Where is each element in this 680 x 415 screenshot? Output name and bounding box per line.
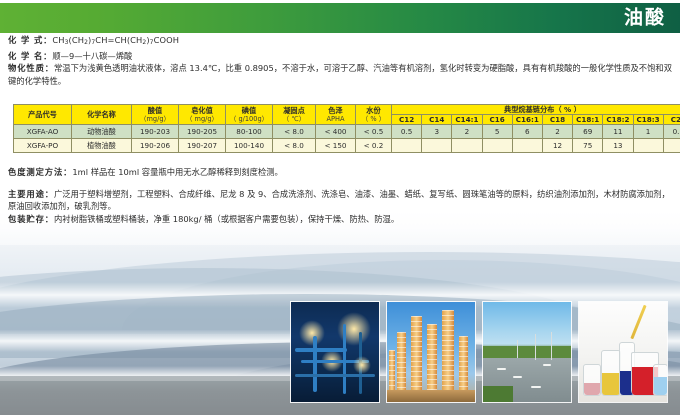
cell-chain-c12 xyxy=(392,139,422,153)
th-chain-c18: C18 xyxy=(542,115,572,125)
th-chain-c18-2: C18:2 xyxy=(603,115,633,125)
photo-night-chemical-plant xyxy=(291,302,379,402)
uses-value: 广泛用于塑料增塑剂，工程塑料、合成纤维、尼龙 8 及 9、合成洗涤剂、洗涤皂、油… xyxy=(8,189,670,212)
cell-chain-c16-1: 6 xyxy=(512,125,542,139)
th-acid-value-unit: （mg/g） xyxy=(132,115,178,123)
cell-chain-c14 xyxy=(422,139,452,153)
cell-chain-c20: 0.5 xyxy=(663,125,680,139)
cell-chain-c18-1: 75 xyxy=(573,139,603,153)
th-chain-c16-1: C16:1 xyxy=(512,115,542,125)
cell-chain-c18: 2 xyxy=(542,125,572,139)
th-chain-distribution-group: 典型烷基链分布（ % ） xyxy=(392,105,680,115)
th-acid-value-label: 酸值 xyxy=(148,106,162,115)
properties-label: 物化性质： xyxy=(8,63,54,73)
th-color-unit: APHA xyxy=(316,115,355,123)
th-chain-c12: C12 xyxy=(392,115,422,125)
th-chain-c18-1: C18:1 xyxy=(573,115,603,125)
cell-code: XGFA-PO xyxy=(14,139,72,153)
photo-distillation-towers xyxy=(387,302,475,402)
chemical-name-line: 化 学 名：顺—9—十八碳—烯酸 xyxy=(8,50,672,63)
uses-label: 主要用途： xyxy=(8,189,54,199)
cell-sap-value: 190-207 xyxy=(179,139,226,153)
cell-chain-c16 xyxy=(482,139,512,153)
chemical-name-label: 化 学 名： xyxy=(8,51,52,61)
cell-iodine-value: 80-100 xyxy=(226,125,273,139)
properties-line: 物化性质：常温下为浅黄色透明油状液体，溶点 13.4℃，比重 0.8905，不溶… xyxy=(8,62,672,87)
th-sap-value-unit: （ mg/g） xyxy=(179,115,225,123)
formula-line: 化 学 式：CH3(CH2)7CH=CH(CH2)7COOH xyxy=(8,34,672,50)
cell-chain-c18: 12 xyxy=(542,139,572,153)
product-info-block: 化 学 式：CH3(CH2)7CH=CH(CH2)7COOH 化 学 名：顺—9… xyxy=(8,34,672,87)
th-chain-c20: C20 xyxy=(663,115,680,125)
color-method-value: 1ml 样品在 10ml 容量瓶中用无水乙醇稀释到刻度检测。 xyxy=(72,167,282,177)
cell-name: 植物油酸 xyxy=(72,139,132,153)
table-row: XGFA-PO 植物油酸 190-206 190-207 100-140 < 8… xyxy=(14,139,680,153)
packaging-label: 包装贮存： xyxy=(8,214,54,224)
table-header-row-1: 产品代号 化学名称 酸值 （mg/g） 皂化值 （ mg/g） 碘值 （ g/1… xyxy=(14,105,680,115)
th-water: 水份 （ % ） xyxy=(356,105,392,125)
th-chain-c16: C16 xyxy=(482,115,512,125)
th-water-label: 水份 xyxy=(366,106,380,115)
th-freezing-point-label: 凝固点 xyxy=(283,106,305,115)
product-datasheet-page: 油酸 化 学 式：CH3(CH2)7CH=CH(CH2)7COOH 化 学 名：… xyxy=(0,0,680,415)
cell-chain-c18-2: 11 xyxy=(603,125,633,139)
page-title: 油酸 xyxy=(624,9,666,28)
specification-table-wrapper: 产品代号 化学名称 酸值 （mg/g） 皂化值 （ mg/g） 碘值 （ g/1… xyxy=(13,104,668,153)
photo-highway xyxy=(483,302,571,402)
th-chain-c14-1: C14:1 xyxy=(452,115,482,125)
cell-acid-value: 190-203 xyxy=(132,125,179,139)
table-head: 产品代号 化学名称 酸值 （mg/g） 皂化值 （ mg/g） 碘值 （ g/1… xyxy=(14,105,680,125)
cell-freezing-point: < 8.0 xyxy=(273,139,316,153)
cell-name: 动物油酸 xyxy=(72,125,132,139)
th-freezing-point-unit: （ ℃） xyxy=(273,115,315,123)
th-product-code: 产品代号 xyxy=(14,105,72,125)
cell-chain-c12: 0.5 xyxy=(392,125,422,139)
formula-value: CH3(CH2)7CH=CH(CH2)7COOH xyxy=(52,35,179,45)
photo-laboratory-glassware xyxy=(579,302,667,402)
cell-chain-c18-1: 69 xyxy=(573,125,603,139)
page-header-band: 油酸 xyxy=(0,3,680,33)
cell-acid-value: 190-206 xyxy=(132,139,179,153)
packaging-value: 内衬树脂铁桶或塑料桶装，净重 180kg/ 桶（或根据客户需要包装），保持干燥、… xyxy=(54,214,399,224)
packaging-line: 包装贮存：内衬树脂铁桶或塑料桶装，净重 180kg/ 桶（或根据客户需要包装），… xyxy=(8,213,672,226)
cell-code: XGFA-AO xyxy=(14,125,72,139)
uses-line: 主要用途：广泛用于塑料增塑剂，工程塑料、合成纤维、尼龙 8 及 9、合成洗涤剂、… xyxy=(8,188,672,213)
th-water-unit: （ % ） xyxy=(356,115,391,123)
th-color-label: 色泽 xyxy=(328,106,342,115)
photo-strip xyxy=(291,302,676,402)
th-chain-c14: C14 xyxy=(422,115,452,125)
th-sap-value: 皂化值 （ mg/g） xyxy=(179,105,226,125)
th-iodine-value-unit: （ g/100g） xyxy=(226,115,272,123)
cell-color: < 400 xyxy=(316,125,356,139)
color-method-line: 色度测定方法：1ml 样品在 10ml 容量瓶中用无水乙醇稀释到刻度检测。 xyxy=(8,166,672,179)
th-sap-value-label: 皂化值 xyxy=(191,106,213,115)
table-row: XGFA-AO 动物油酸 190-203 190-205 80-100 < 8.… xyxy=(14,125,680,139)
th-iodine-value: 碘值 （ g/100g） xyxy=(226,105,273,125)
cell-color: < 150 xyxy=(316,139,356,153)
th-color: 色泽 APHA xyxy=(316,105,356,125)
th-chain-c18-3: C18:3 xyxy=(633,115,663,125)
cell-chain-c16-1 xyxy=(512,139,542,153)
cell-water: < 0.2 xyxy=(356,139,392,153)
cell-chain-c20 xyxy=(663,139,680,153)
cell-chain-c14: 3 xyxy=(422,125,452,139)
th-freezing-point: 凝固点 （ ℃） xyxy=(273,105,316,125)
cell-chain-c18-3 xyxy=(633,139,663,153)
th-acid-value: 酸值 （mg/g） xyxy=(132,105,179,125)
cell-water: < 0.5 xyxy=(356,125,392,139)
cell-chain-c18-3: 1 xyxy=(633,125,663,139)
specification-table: 产品代号 化学名称 酸值 （mg/g） 皂化值 （ mg/g） 碘值 （ g/1… xyxy=(13,104,680,153)
th-iodine-value-label: 碘值 xyxy=(242,106,256,115)
properties-value: 常温下为浅黄色透明油状液体，溶点 13.4℃，比重 0.8905，不溶于水，可溶… xyxy=(8,63,672,86)
cell-sap-value: 190-205 xyxy=(179,125,226,139)
cell-chain-c14-1 xyxy=(452,139,482,153)
cell-chain-c14-1: 2 xyxy=(452,125,482,139)
chemical-name-value: 顺—9—十八碳—烯酸 xyxy=(52,51,132,61)
cell-iodine-value: 100-140 xyxy=(226,139,273,153)
th-chemical-name: 化学名称 xyxy=(72,105,132,125)
cell-freezing-point: < 8.0 xyxy=(273,125,316,139)
formula-label: 化 学 式： xyxy=(8,35,52,45)
color-method-label: 色度测定方法： xyxy=(8,167,72,177)
cell-chain-c18-2: 13 xyxy=(603,139,633,153)
table-body: XGFA-AO 动物油酸 190-203 190-205 80-100 < 8.… xyxy=(14,125,680,153)
notes-block: 色度测定方法：1ml 样品在 10ml 容量瓶中用无水乙醇稀释到刻度检测。 主要… xyxy=(8,166,672,225)
cell-chain-c16: 5 xyxy=(482,125,512,139)
